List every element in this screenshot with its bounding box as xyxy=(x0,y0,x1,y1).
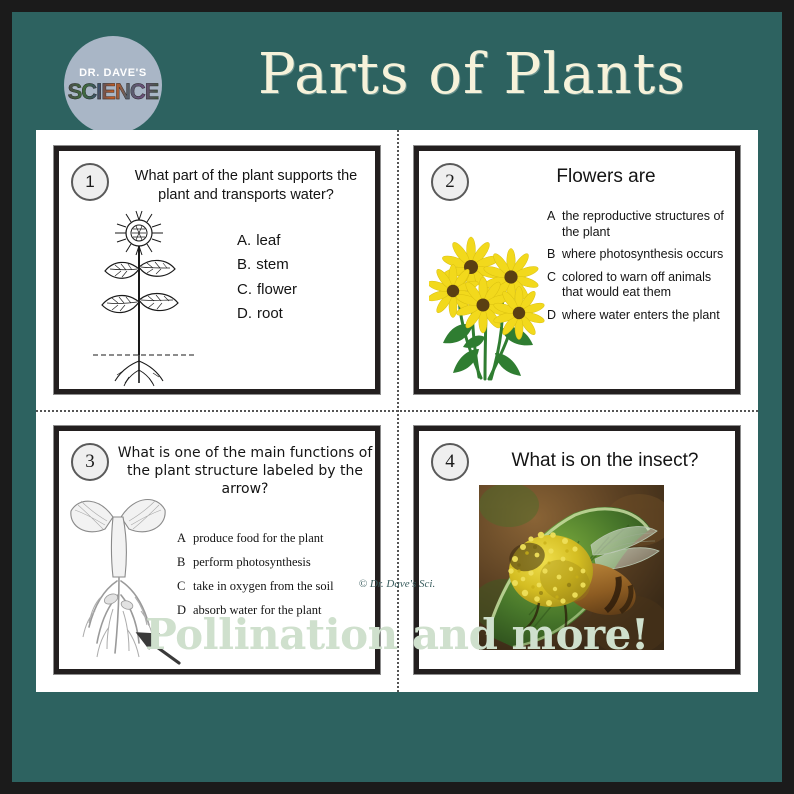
option-letter: B. xyxy=(237,253,251,277)
copyright-watermark: © Dr. Dave's Sci. xyxy=(12,578,782,590)
logo-main-text: SCIENCE xyxy=(68,81,159,103)
option-text: leaf xyxy=(256,229,367,253)
option-text: root xyxy=(257,302,367,326)
option-text: perform photosynthesis xyxy=(193,555,377,570)
footer-tagline: Pollination and more! xyxy=(12,610,782,659)
yellow-daisies-clipart xyxy=(429,229,549,389)
option-text: colored to warn off animals that would e… xyxy=(562,270,735,301)
option-letter: B xyxy=(547,247,562,263)
option-letter: A xyxy=(177,531,193,546)
option-b[interactable]: B where photosynthesis occurs xyxy=(547,247,735,263)
option-text: flower xyxy=(257,278,367,302)
header: DR. DAVE'S SCIENCE Parts of Plants xyxy=(12,12,782,128)
option-text: produce food for the plant xyxy=(193,531,377,546)
question-text: What is on the insect? xyxy=(477,449,733,473)
question-number-badge: 2 xyxy=(431,163,469,201)
plant-with-roots-line-drawing xyxy=(77,207,227,389)
question-card-2[interactable]: 2 Flowers are xyxy=(414,146,740,394)
option-a[interactable]: A produce food for the plant xyxy=(177,531,377,546)
question-card-1[interactable]: 1 What part of the plant supports the pl… xyxy=(54,146,380,394)
question-number-badge: 1 xyxy=(71,163,109,201)
logo-top-text: DR. DAVE'S xyxy=(79,68,147,79)
option-d[interactable]: D where water enters the plant xyxy=(547,308,735,324)
option-letter: D xyxy=(547,308,562,324)
answer-options[interactable]: A the reproductive structures of the pla… xyxy=(547,209,735,330)
cut-line-vertical xyxy=(397,130,399,692)
page-title: Parts of Plants xyxy=(177,28,767,120)
option-b[interactable]: B perform photosynthesis xyxy=(177,555,377,570)
option-text: where water enters the plant xyxy=(562,308,735,324)
question-number-badge: 4 xyxy=(431,443,469,481)
question-number-badge: 3 xyxy=(71,443,109,481)
poster: DR. DAVE'S SCIENCE Parts of Plants 1 Wha… xyxy=(12,12,782,782)
option-d[interactable]: D. root xyxy=(237,302,367,326)
option-letter: D. xyxy=(237,302,252,326)
option-a[interactable]: A the reproductive structures of the pla… xyxy=(547,209,735,240)
option-letter: B xyxy=(177,555,193,570)
question-text: What part of the plant supports the plan… xyxy=(121,167,371,204)
question-text: Flowers are xyxy=(481,165,731,189)
option-text: the reproductive structures of the plant xyxy=(562,209,735,240)
option-text: where photosynthesis occurs xyxy=(562,247,735,263)
option-text: stem xyxy=(256,253,367,277)
option-c[interactable]: C. flower xyxy=(237,278,367,302)
option-letter: A xyxy=(547,209,562,240)
answer-options[interactable]: A. leaf B. stem C. flower D. root xyxy=(237,229,367,326)
option-c[interactable]: C colored to warn off animals that would… xyxy=(547,270,735,301)
option-b[interactable]: B. stem xyxy=(237,253,367,277)
option-letter: A. xyxy=(237,229,251,253)
option-letter: C. xyxy=(237,278,252,302)
worksheet-sheet: 1 What part of the plant supports the pl… xyxy=(36,130,758,692)
brand-logo: DR. DAVE'S SCIENCE xyxy=(64,36,162,134)
option-letter: C xyxy=(547,270,562,301)
option-a[interactable]: A. leaf xyxy=(237,229,367,253)
